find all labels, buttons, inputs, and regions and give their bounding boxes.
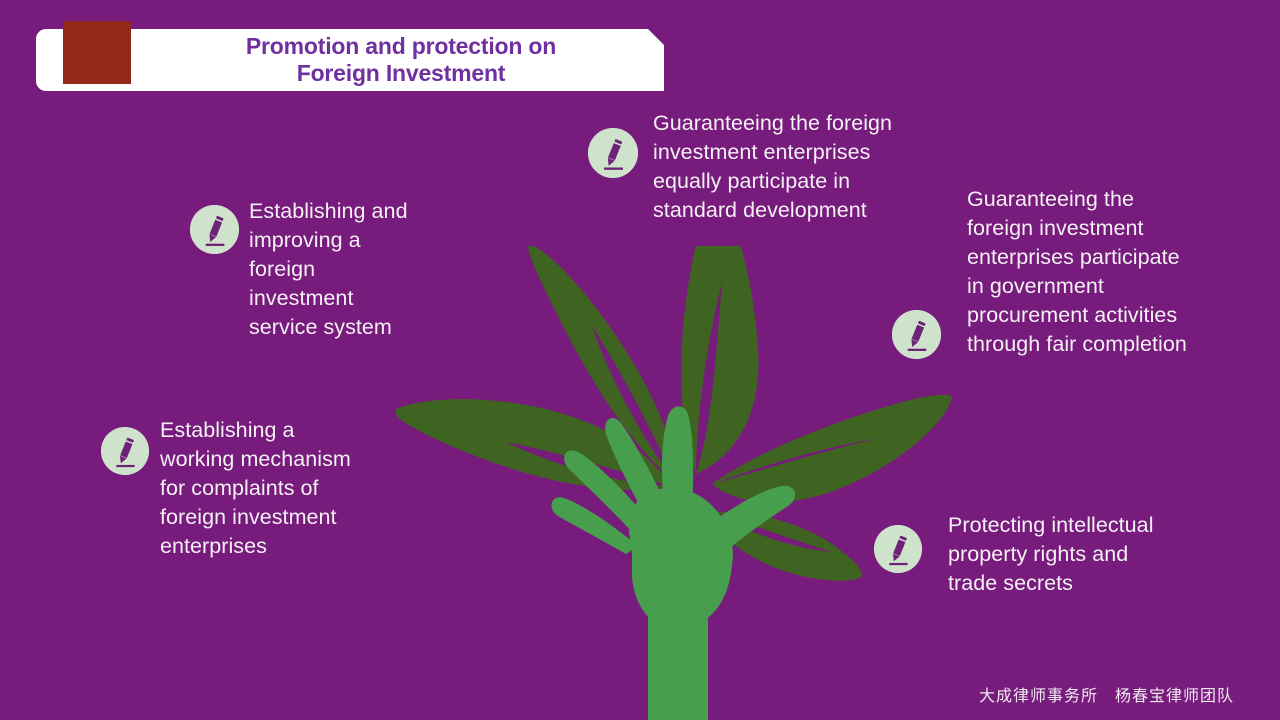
- slide-title-banner: Promotion and protection on Foreign Inve…: [36, 29, 664, 91]
- page-title: Promotion and protection on Foreign Inve…: [166, 33, 636, 87]
- pencil-icon-establishing-service-system: [190, 205, 239, 254]
- pencil-icon-complaint-working-mechanism: [101, 427, 149, 475]
- callout-text-guaranteeing-government-procurement: Guaranteeing the foreign investment ente…: [967, 185, 1195, 359]
- callout-text-complaint-working-mechanism: Establishing a working mechanism for com…: [160, 416, 364, 561]
- callout-text-protecting-ip-trade-secrets: Protecting intellectual property rights …: [948, 511, 1166, 598]
- callout-text-guaranteeing-standard-development: Guaranteeing the foreign investment ente…: [653, 109, 901, 225]
- presentation-slide: Promotion and protection on Foreign Inve…: [0, 0, 1280, 720]
- pencil-icon-protecting-ip-trade-secrets: [874, 525, 922, 573]
- footer-attribution: 大成律师事务所 杨春宝律师团队: [979, 682, 1234, 706]
- pencil-icon-guaranteeing-government-procurement: [892, 310, 941, 359]
- callout-text-establishing-service-system: Establishing and improving a foreign inv…: [249, 197, 425, 342]
- pencil-icon-guaranteeing-standard-development: [588, 128, 638, 178]
- page-title-line-1: Promotion and protection on: [166, 33, 636, 60]
- page-title-line-2: Foreign Investment: [166, 60, 636, 87]
- hand-tree-illustration: [396, 246, 956, 720]
- title-accent-block: [63, 21, 131, 84]
